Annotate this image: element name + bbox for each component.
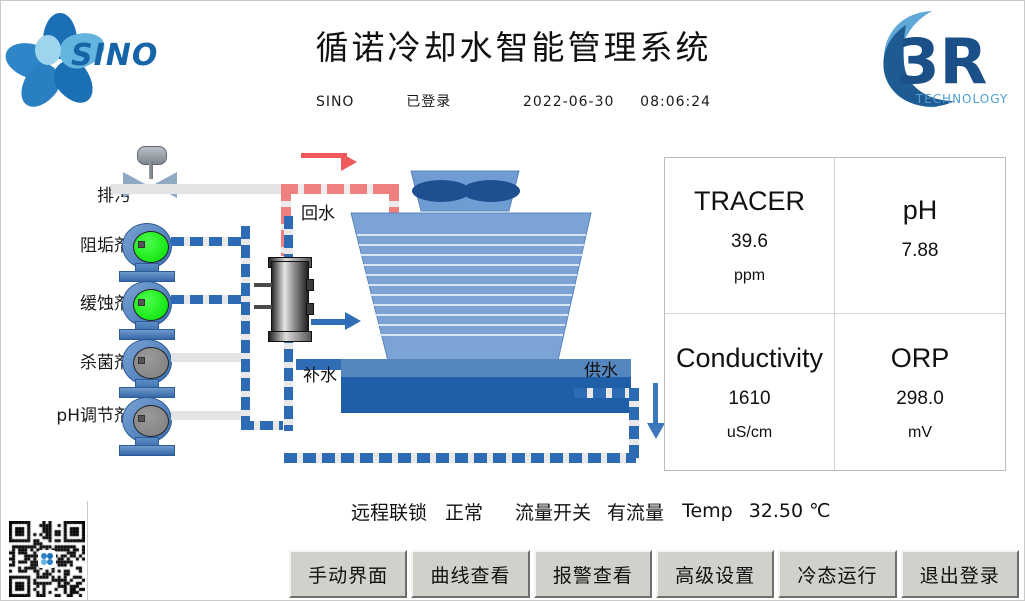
measurement-cell-tracer: TRACER 39.6 ppm [665, 158, 835, 314]
orp-value: 298.0 [896, 388, 944, 410]
temp-label: Temp [682, 500, 733, 522]
header-time: 08:06:24 [640, 94, 711, 110]
measurement-panel: TRACER 39.6 ppm pH 7.88 Conductivity 161… [664, 157, 1006, 471]
flow-switch-label: 流量开关 [515, 498, 591, 525]
dosing-label-ph-adjuster: pH调节剂 [9, 401, 131, 426]
cooling-water-hmi-screen: SINO 循诺冷却水智能管理系统 SINO 已登录 2022-06-30 08:… [0, 0, 1025, 601]
orp-unit: mV [908, 424, 932, 442]
fan-blade-right-icon [462, 180, 520, 202]
supply-arrow-shaft [653, 383, 658, 425]
logout-button[interactable]: 退出登录 [901, 550, 1019, 598]
fan-blade-left-icon [412, 180, 470, 202]
water-quality-analyzer[interactable] [266, 253, 312, 343]
measurement-cell-conductivity: Conductivity 1610 uS/cm [665, 314, 835, 470]
3r-tagline: TECHNOLOGY [915, 92, 1008, 106]
label-makeup-water: 补水 [303, 361, 337, 386]
blowdown-pipe [111, 184, 287, 194]
orp-label: ORP [891, 343, 950, 374]
pump-base-icon [119, 445, 175, 456]
remote-interlock-value: 正常 [445, 498, 483, 525]
header-user: SINO [316, 94, 355, 110]
analyzer-body-icon [271, 261, 309, 337]
header: SINO 循诺冷却水智能管理系统 SINO 已登录 2022-06-30 08:… [1, 1, 1025, 121]
conductivity-label: Conductivity [676, 343, 823, 374]
3r-technology-logo: 3R TECHNOLOGY [870, 3, 1020, 113]
temp-unit: ℃ [809, 500, 830, 522]
dosing-pipe-biocide [171, 353, 249, 362]
measurement-cell-orp: ORP 298.0 mV [835, 314, 1005, 470]
tracer-label: TRACER [694, 186, 805, 217]
header-date: 2022-06-30 [523, 94, 614, 110]
supply-pipe-bottom [284, 453, 636, 463]
dosing-pipe-inhibitor [171, 295, 249, 304]
label-return-water: 回水 [301, 199, 335, 224]
header-login-status: 已登录 [406, 91, 451, 111]
svg-text:3R: 3R [897, 25, 988, 98]
dosing-header-riser [241, 226, 250, 426]
button-bar: 手动界面 曲线查看 报警查看 高级设置 冷态运行 退出登录 [289, 550, 1019, 598]
left-divider [87, 501, 88, 601]
pump-antiscalant[interactable] [119, 223, 173, 285]
temp-value: 32.50 [749, 500, 803, 522]
tracer-value: 39.6 [731, 231, 768, 253]
pump-shaft-icon [138, 241, 145, 248]
dosing-label-biocide: 杀菌剂 [21, 348, 131, 373]
label-supply-water: 供水 [584, 356, 618, 381]
qr-code [9, 521, 85, 597]
pump-inhibitor[interactable] [119, 281, 173, 343]
makeup-arrow-shaft [311, 319, 345, 325]
analyzer-probe-left-upper-icon [254, 283, 272, 287]
dosing-label-antiscalant: 阻垢剂 [21, 231, 131, 256]
analyzer-port-upper-icon [306, 279, 314, 291]
dosing-pipe-ph [171, 411, 249, 420]
flow-switch-value: 有流量 [607, 498, 664, 525]
conductivity-value: 1610 [728, 388, 770, 410]
analyzer-port-lower-icon [306, 303, 314, 315]
ph-label: pH [903, 195, 938, 226]
analyzer-probe-left-lower-icon [254, 305, 272, 309]
pump-shaft-icon [138, 299, 145, 306]
remote-interlock-label: 远程联锁 [351, 498, 427, 525]
dosing-label-inhibitor: 缓蚀剂 [21, 289, 131, 314]
alarm-view-button[interactable]: 报警查看 [534, 550, 652, 598]
dosing-pipe-antiscalant [171, 237, 249, 246]
pump-shaft-icon [138, 415, 145, 422]
manual-interface-button[interactable]: 手动界面 [289, 550, 407, 598]
status-row: 远程联锁 正常 流量开关 有流量 Temp 32.50 ℃ [351, 496, 1016, 526]
supply-pipe-right [629, 388, 639, 460]
pump-shaft-icon [138, 357, 145, 364]
conductivity-unit: uS/cm [727, 424, 772, 442]
measurement-cell-ph: pH 7.88 [835, 158, 1005, 314]
pump-biocide[interactable] [119, 339, 173, 401]
qr-center-logo [38, 550, 56, 568]
analyzer-bottom-cap-icon [268, 331, 312, 342]
cooling-tower [341, 169, 641, 419]
advanced-settings-button[interactable]: 高级设置 [656, 550, 774, 598]
supply-water-arrow-icon [647, 423, 665, 439]
pump-ph-adjuster[interactable] [119, 397, 173, 459]
trend-curve-button[interactable]: 曲线查看 [411, 550, 529, 598]
dosing-header-bottom [241, 421, 283, 430]
tracer-unit: ppm [734, 267, 765, 285]
ph-value: 7.88 [902, 240, 939, 262]
cold-start-run-button[interactable]: 冷态运行 [778, 550, 896, 598]
sino-mini-logo-icon [39, 551, 55, 567]
return-water-arrow-shaft [301, 153, 347, 158]
